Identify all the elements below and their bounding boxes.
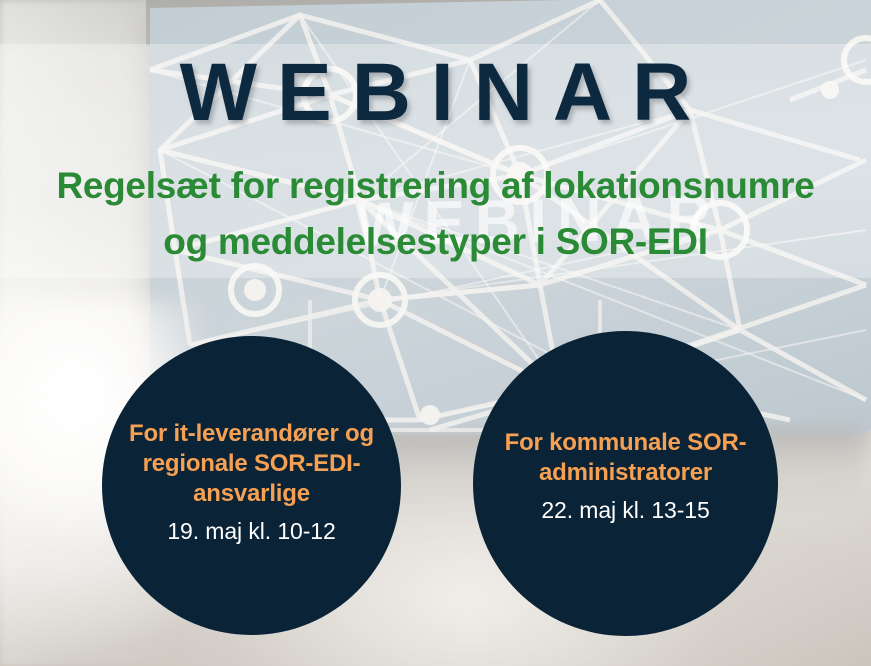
- session-circle-it-leverandoerer: For it-leverandører og regionale SOR-EDI…: [102, 336, 401, 635]
- page-subtitle: Regelsæt for registrering af lokationsnu…: [0, 158, 871, 270]
- page-title: WEBINAR: [0, 45, 871, 141]
- session-circle-kommunale-administratorer: For kommunale SOR-administratorer 22. ma…: [473, 331, 778, 636]
- webinar-poster: WEBINAR WEBINAR Regelsæt for registrerin…: [0, 0, 871, 666]
- subtitle-line-2: og meddelelsestyper i SOR-EDI: [0, 214, 871, 270]
- session-heading: For it-leverandører og regionale SOR-EDI…: [126, 419, 377, 509]
- session-time: 22. maj kl. 13-15: [541, 495, 709, 525]
- session-time: 19. maj kl. 10-12: [167, 516, 335, 546]
- session-heading: For kommunale SOR-administratorer: [499, 428, 752, 488]
- subtitle-line-1: Regelsæt for registrering af lokationsnu…: [56, 165, 814, 206]
